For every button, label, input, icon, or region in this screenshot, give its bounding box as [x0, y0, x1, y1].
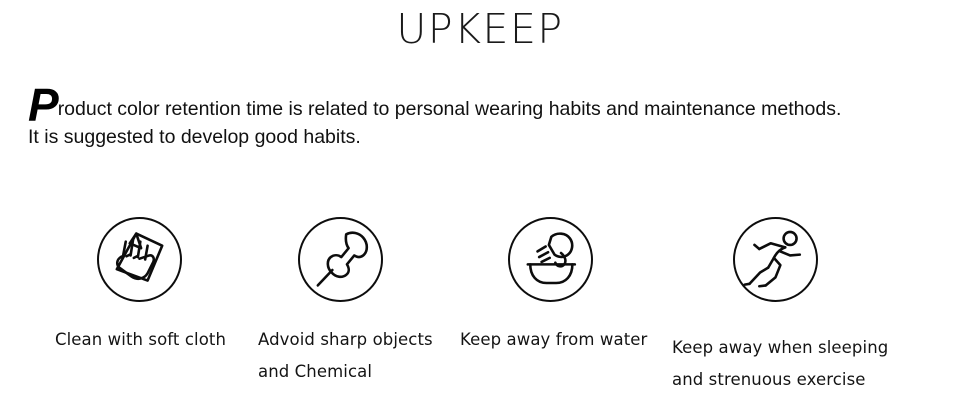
hand-wiping-cloth-icon	[99, 219, 180, 300]
intro-paragraph: Product color retention time is related …	[28, 86, 928, 153]
care-icon-row	[0, 217, 960, 307]
caption-line: Keep away when sleeping	[672, 332, 888, 364]
care-icon-badge-sleeping-exercise	[733, 217, 818, 302]
intro-line-2: It is suggested to develop good habits.	[28, 122, 928, 153]
care-caption-water: Keep away from water	[460, 324, 647, 356]
caption-line: and Chemical	[258, 356, 433, 388]
care-caption-row: Clean with soft cloth Advoid sharp objec…	[0, 324, 960, 414]
caption-line: Keep away from water	[460, 324, 647, 356]
intro-line-1: Product color retention time is related …	[28, 86, 928, 124]
care-caption-sleeping-exercise: Keep away when sleeping and strenuous ex…	[672, 332, 888, 396]
caption-line: and strenuous exercise	[672, 364, 888, 396]
caption-line: Advoid sharp objects	[258, 324, 433, 356]
care-icon-badge-clean	[97, 217, 182, 302]
care-icon-badge-water	[508, 217, 593, 302]
caption-line: Clean with soft cloth	[55, 324, 226, 356]
page-title: UPKEEP	[0, 6, 960, 52]
care-caption-sharp-objects: Advoid sharp objects and Chemical	[258, 324, 433, 388]
care-icon-badge-sharp-objects	[298, 217, 383, 302]
push-pin-icon	[300, 219, 381, 300]
faucet-water-basin-icon	[510, 219, 591, 300]
running-person-icon	[735, 219, 816, 300]
care-caption-clean: Clean with soft cloth	[55, 324, 226, 356]
dropcap-letter: P	[28, 79, 58, 131]
intro-line-1-text: roduct color retention time is related t…	[58, 98, 842, 120]
